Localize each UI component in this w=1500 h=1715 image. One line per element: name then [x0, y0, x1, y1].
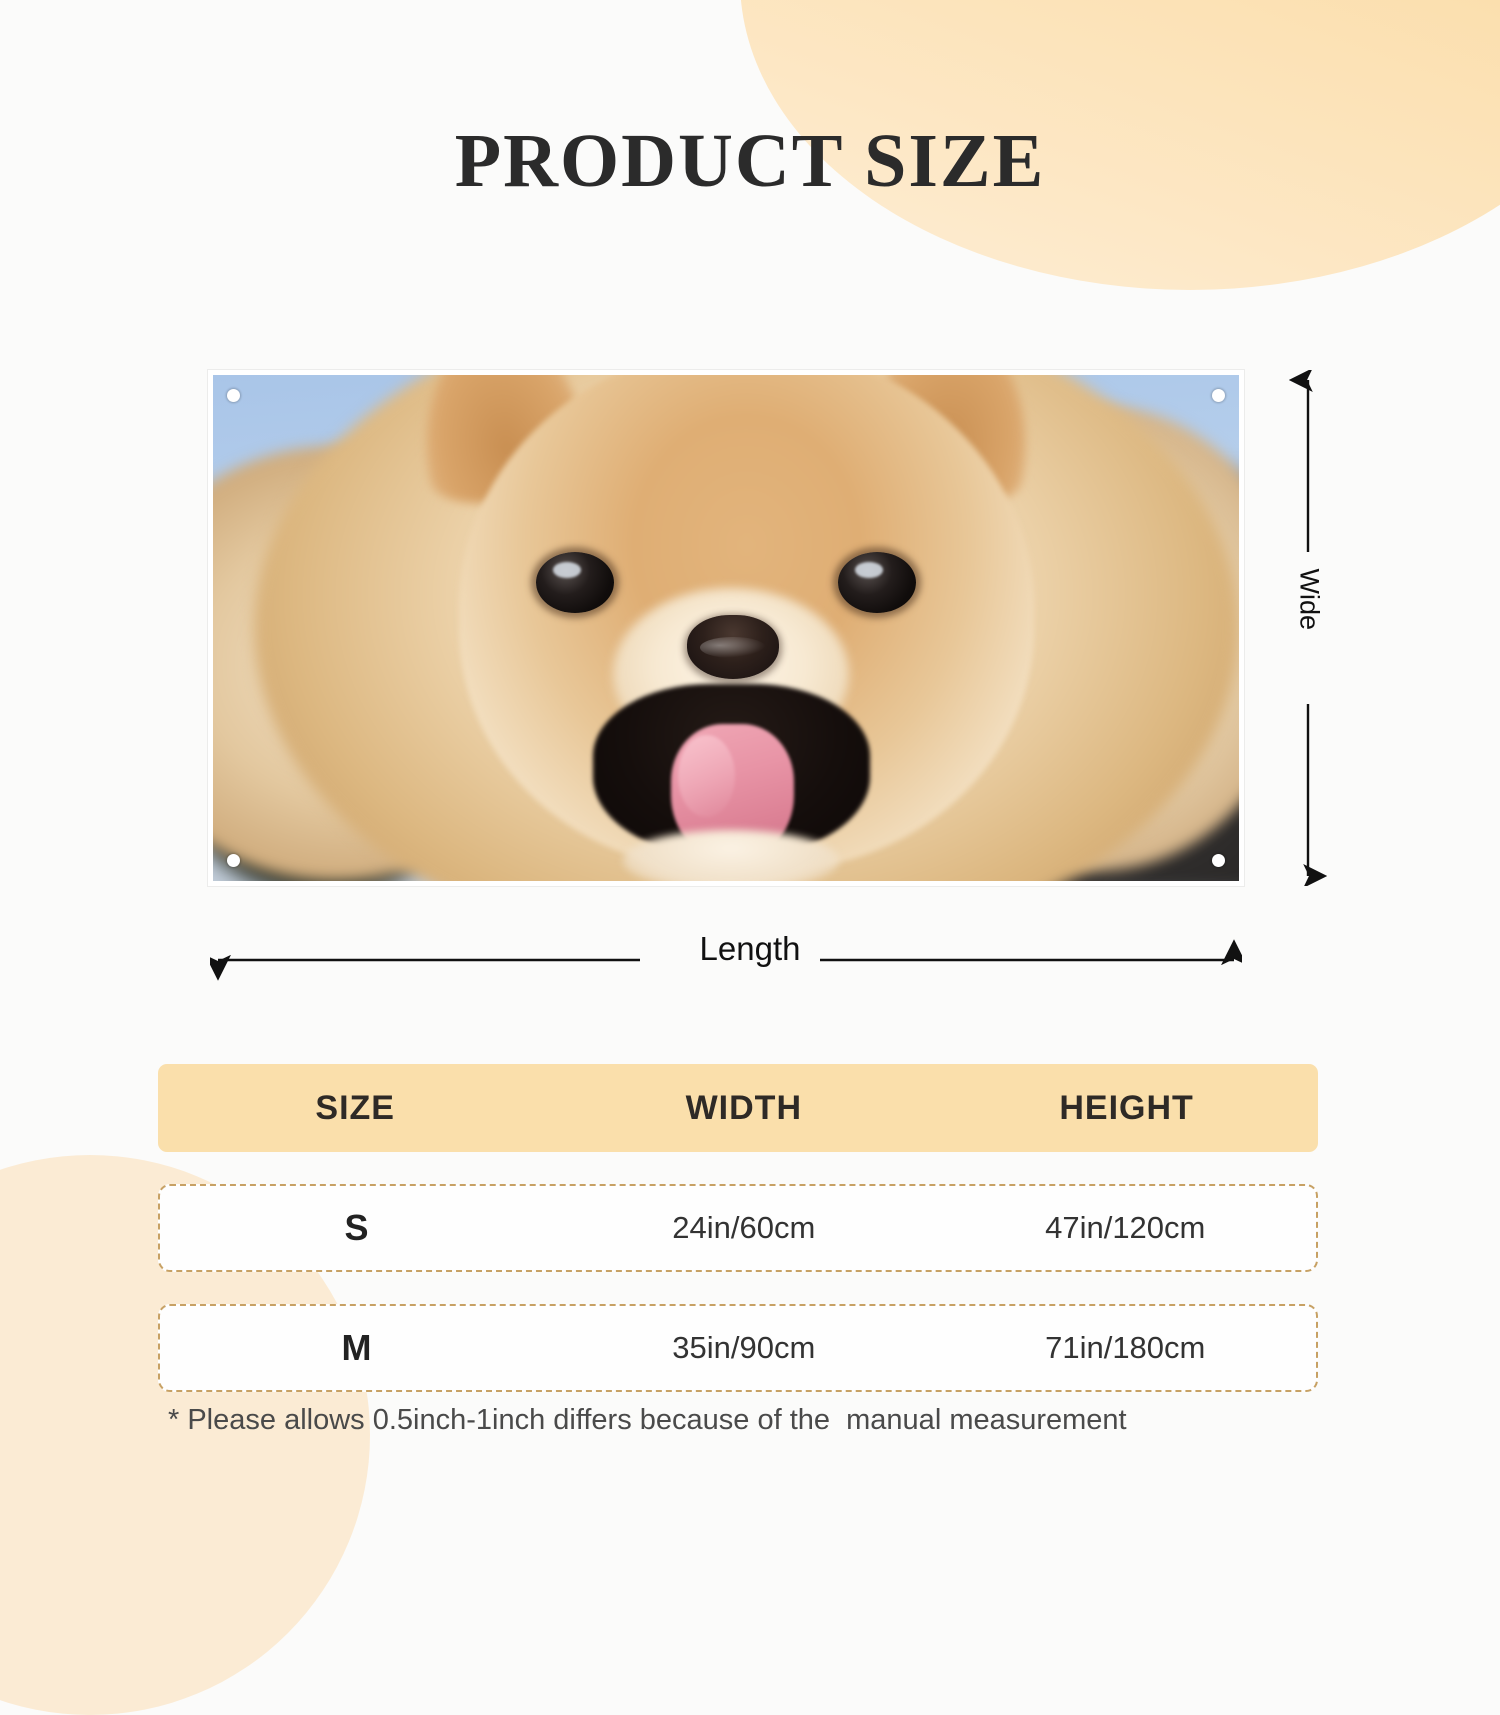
product-banner: [208, 370, 1244, 886]
grommet-top-right-icon: [1212, 389, 1225, 402]
wide-label: Wide: [1294, 569, 1325, 619]
table-row: S 24in/60cm 47in/120cm: [158, 1184, 1318, 1272]
cell-size: S: [160, 1207, 553, 1249]
column-header-width: WIDTH: [552, 1089, 935, 1128]
dog-chin: [623, 830, 838, 881]
grommet-bottom-left-icon: [227, 854, 240, 867]
column-header-height: HEIGHT: [935, 1089, 1318, 1128]
cell-size: M: [160, 1327, 553, 1369]
grommet-top-left-icon: [227, 389, 240, 402]
size-table: SIZE WIDTH HEIGHT S 24in/60cm 47in/120cm…: [158, 1064, 1318, 1424]
length-label: Length: [0, 930, 1500, 968]
grommet-bottom-right-icon: [1212, 854, 1225, 867]
dog-nose: [687, 615, 779, 678]
dog-eye-right: [838, 552, 916, 613]
dog-eye-left: [536, 552, 614, 613]
cell-height: 47in/120cm: [935, 1210, 1316, 1246]
banner-photo: [213, 375, 1239, 881]
column-header-size: SIZE: [158, 1089, 552, 1128]
page-title: PRODUCT SIZE: [0, 118, 1500, 205]
table-header-row: SIZE WIDTH HEIGHT: [158, 1064, 1318, 1152]
cell-width: 35in/90cm: [553, 1330, 934, 1366]
measurement-footnote: * Please allows 0.5inch-1inch differs be…: [168, 1404, 1127, 1437]
cell-height: 71in/180cm: [935, 1330, 1316, 1366]
table-row: M 35in/90cm 71in/180cm: [158, 1304, 1318, 1392]
cell-width: 24in/60cm: [553, 1210, 934, 1246]
